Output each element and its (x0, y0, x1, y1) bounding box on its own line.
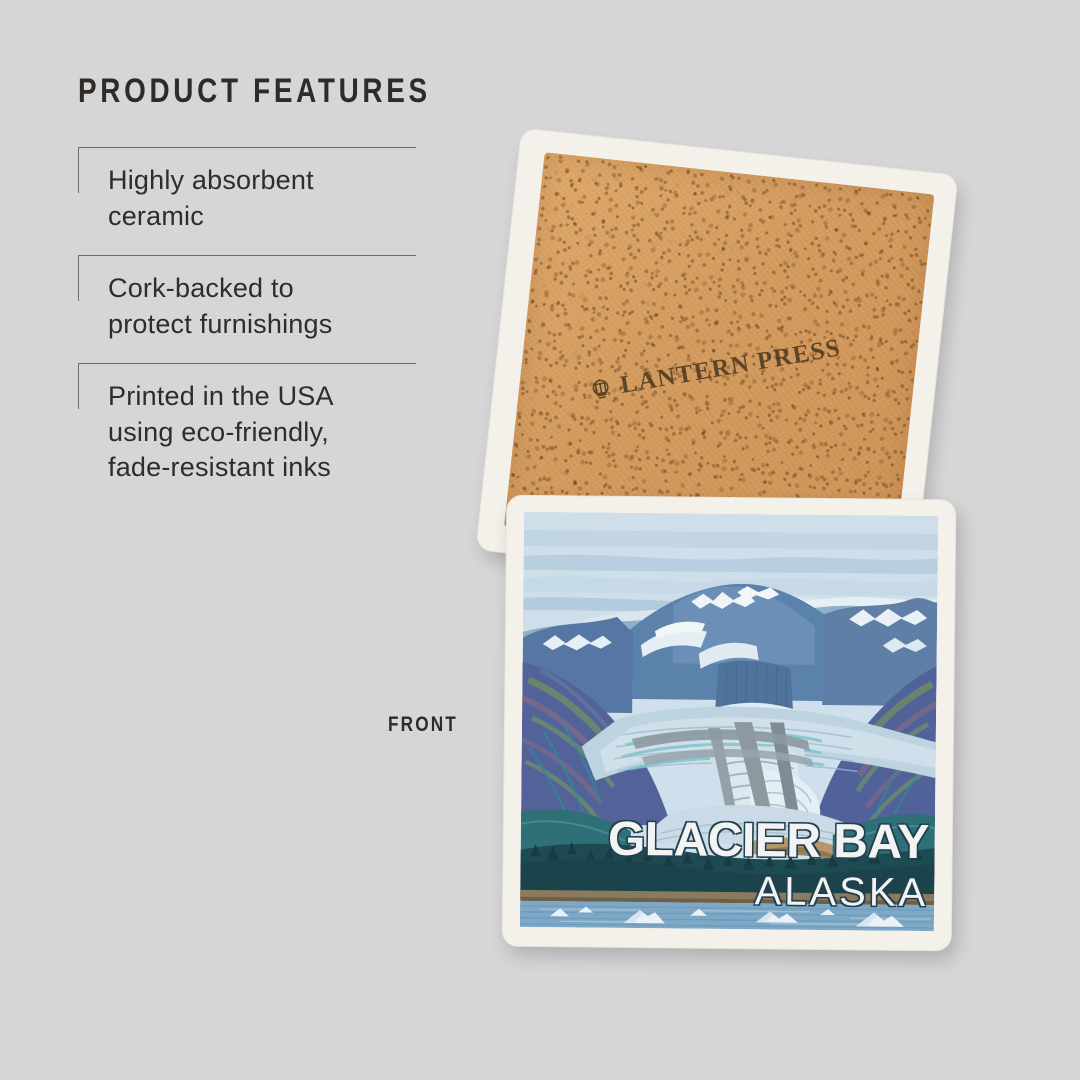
feature-tick-mark (78, 147, 79, 193)
feature-item: Cork-backed to protect furnishings (78, 255, 428, 363)
product-features-panel: PRODUCT FEATURES Highly absorbent cerami… (78, 72, 428, 506)
feature-divider (78, 147, 416, 148)
feature-text: Highly absorbent ceramic (108, 163, 428, 235)
artwork-title: GLACIER BAY (608, 816, 929, 867)
feature-item: Printed in the USA using eco-friendly, f… (78, 363, 428, 507)
feature-divider (78, 255, 416, 256)
page-title: PRODUCT FEATURES (78, 72, 365, 111)
feature-text: Cork-backed to protect furnishings (108, 271, 428, 343)
feature-divider (78, 363, 416, 364)
lantern-icon (588, 376, 614, 403)
feature-item: Highly absorbent ceramic (78, 147, 428, 255)
front-coaster: GLACIER BAY ALASKA (502, 495, 957, 952)
feature-tick-mark (78, 363, 79, 409)
artwork-subtitle: ALASKA (754, 871, 928, 913)
feature-text: Printed in the USA using eco-friendly, f… (108, 379, 428, 487)
feature-tick-mark (78, 255, 79, 301)
glacier-bay-artwork: GLACIER BAY ALASKA (520, 512, 938, 931)
front-label: FRONT (388, 713, 458, 737)
